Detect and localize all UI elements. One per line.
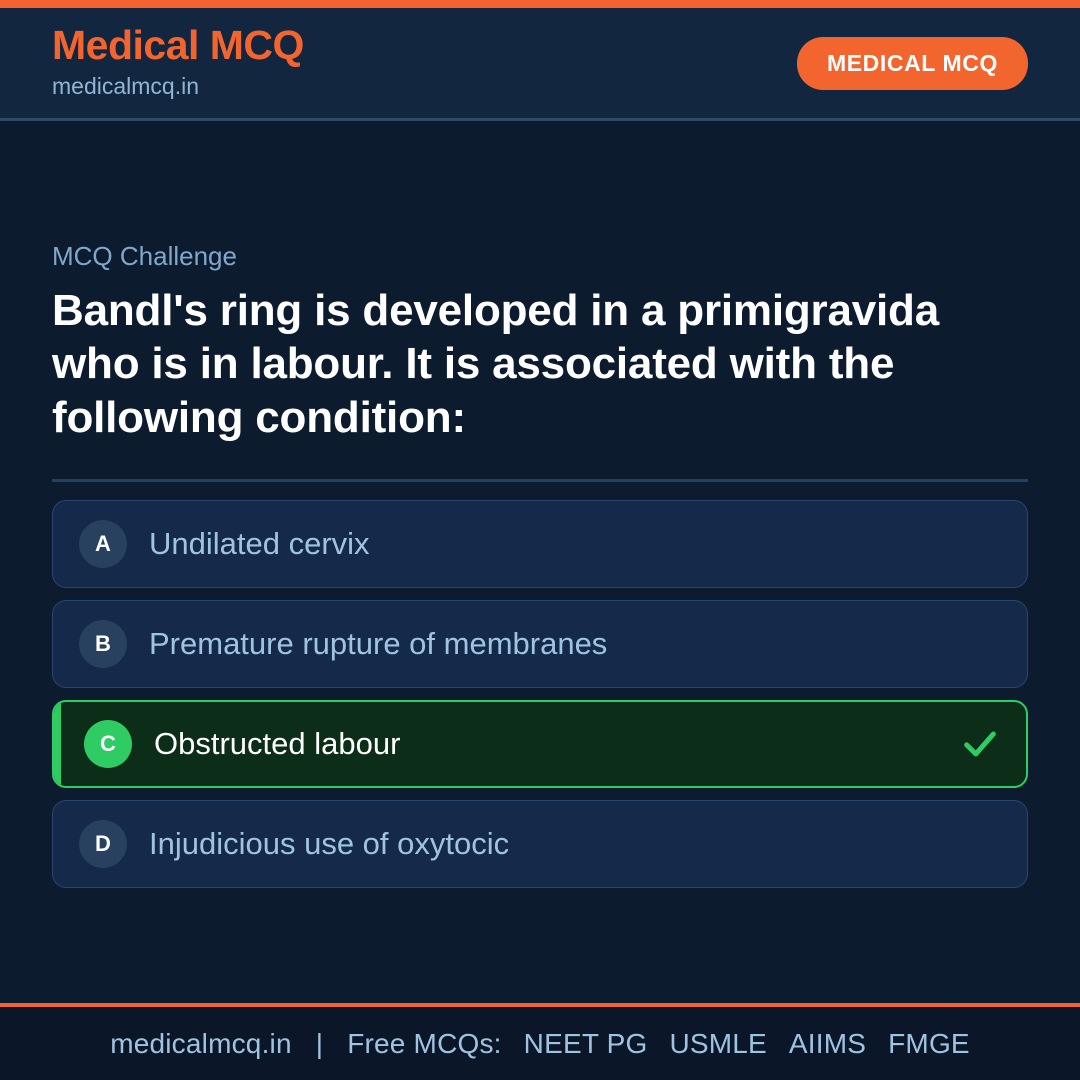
- option-row-d[interactable]: D Injudicious use of oxytocic: [52, 800, 1028, 888]
- footer-exam-neet-pg: NEET PG: [524, 1028, 648, 1059]
- footer-site: medicalmcq.in: [110, 1028, 292, 1059]
- footer-exam-usmle: USMLE: [669, 1028, 766, 1059]
- top-accent-bar: [0, 0, 1080, 8]
- footer-text: medicalmcq.in | Free MCQs: NEET PG USMLE…: [110, 1028, 970, 1060]
- option-letter-badge: C: [84, 720, 132, 768]
- footer-label: Free MCQs:: [347, 1028, 501, 1059]
- option-letter-badge: A: [79, 520, 127, 568]
- brand: Medical MCQ medicalmcq.in: [52, 24, 304, 102]
- header-badge: MEDICAL MCQ: [797, 37, 1028, 90]
- correct-accent-bar: [54, 702, 61, 786]
- main-content: MCQ Challenge Bandl's ring is developed …: [0, 121, 1080, 1003]
- header: Medical MCQ medicalmcq.in MEDICAL MCQ: [0, 8, 1080, 121]
- footer-exam-fmge: FMGE: [888, 1028, 970, 1059]
- option-label: Premature rupture of membranes: [149, 625, 1001, 664]
- brand-title: Medical MCQ: [52, 24, 304, 67]
- option-label: Undilated cervix: [149, 525, 1001, 564]
- check-icon: [960, 724, 1000, 764]
- option-label: Injudicious use of oxytocic: [149, 825, 1001, 864]
- section-divider: [52, 479, 1028, 482]
- mcq-card: Medical MCQ medicalmcq.in MEDICAL MCQ MC…: [0, 0, 1080, 1080]
- footer-separator: |: [316, 1028, 323, 1059]
- eyebrow-label: MCQ Challenge: [52, 241, 1028, 272]
- option-row-c[interactable]: C Obstructed labour: [52, 700, 1028, 788]
- footer-exam-aiims: AIIMS: [789, 1028, 866, 1059]
- option-label: Obstructed labour: [154, 725, 946, 764]
- option-letter-badge: D: [79, 820, 127, 868]
- options-list: A Undilated cervix B Premature rupture o…: [52, 500, 1028, 888]
- option-row-a[interactable]: A Undilated cervix: [52, 500, 1028, 588]
- footer: medicalmcq.in | Free MCQs: NEET PG USMLE…: [0, 1003, 1080, 1080]
- option-row-b[interactable]: B Premature rupture of membranes: [52, 600, 1028, 688]
- question-text: Bandl's ring is developed in a primigrav…: [52, 284, 1028, 444]
- brand-subtitle: medicalmcq.in: [52, 70, 304, 102]
- option-letter-badge: B: [79, 620, 127, 668]
